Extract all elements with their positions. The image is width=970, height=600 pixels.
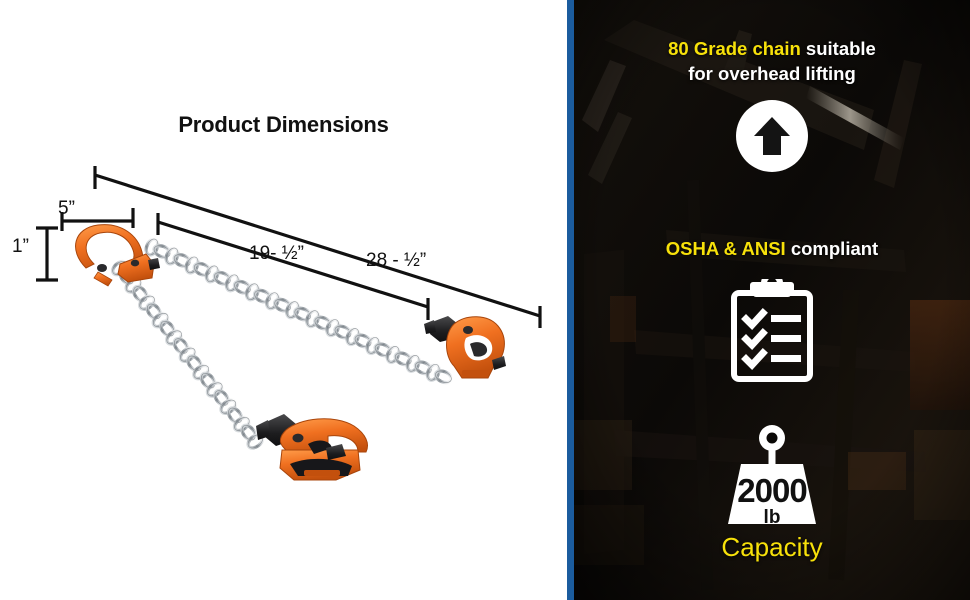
dimension-label-chain: 19- ½”	[249, 243, 304, 265]
clipboard-checklist-icon	[729, 279, 815, 383]
capacity-caption: Capacity	[574, 532, 970, 563]
infographic-page: Product Dimensions	[0, 0, 970, 600]
dimline-total-28	[95, 175, 540, 316]
dimension-lines	[0, 0, 567, 600]
feature-heading: OSHA & ANSI compliant	[574, 236, 970, 261]
feature-icon-wrap	[574, 279, 970, 383]
feature-icon-wrap: 2000 lb	[574, 424, 970, 530]
feature-line2-text: for overhead lifting	[688, 63, 856, 84]
weight-unit: lb	[574, 507, 970, 529]
weight-value: 2000	[574, 472, 970, 510]
dimension-label-total: 28 - ½”	[366, 250, 426, 272]
feature-rest-text: compliant	[786, 238, 879, 259]
product-illustration: 5” 1” 19- ½” 28 - ½”	[0, 0, 567, 600]
feature-heading: 80 Grade chain suitable for overhead lif…	[574, 36, 970, 86]
up-arrow-icon	[736, 100, 808, 172]
feature-list: 80 Grade chain suitable for overhead lif…	[574, 0, 970, 600]
panel-divider	[567, 0, 574, 600]
feature-osha-ansi: OSHA & ANSI compliant	[574, 236, 970, 383]
product-dimensions-panel: Product Dimensions	[0, 0, 567, 600]
feature-overhead-lifting: 80 Grade chain suitable for overhead lif…	[574, 36, 970, 172]
feature-capacity: 2000 lb Capacity	[574, 424, 970, 563]
feature-rest-text: suitable	[801, 38, 876, 59]
dimension-label-width: 5”	[58, 198, 75, 220]
feature-icon-wrap	[574, 100, 970, 172]
feature-highlight-text: 80 Grade chain	[668, 38, 801, 59]
dimension-label-height: 1”	[12, 236, 29, 258]
feature-highlight-text: OSHA & ANSI	[666, 238, 786, 259]
up-arrow-glyph	[752, 115, 792, 157]
features-panel: 80 Grade chain suitable for overhead lif…	[574, 0, 970, 600]
